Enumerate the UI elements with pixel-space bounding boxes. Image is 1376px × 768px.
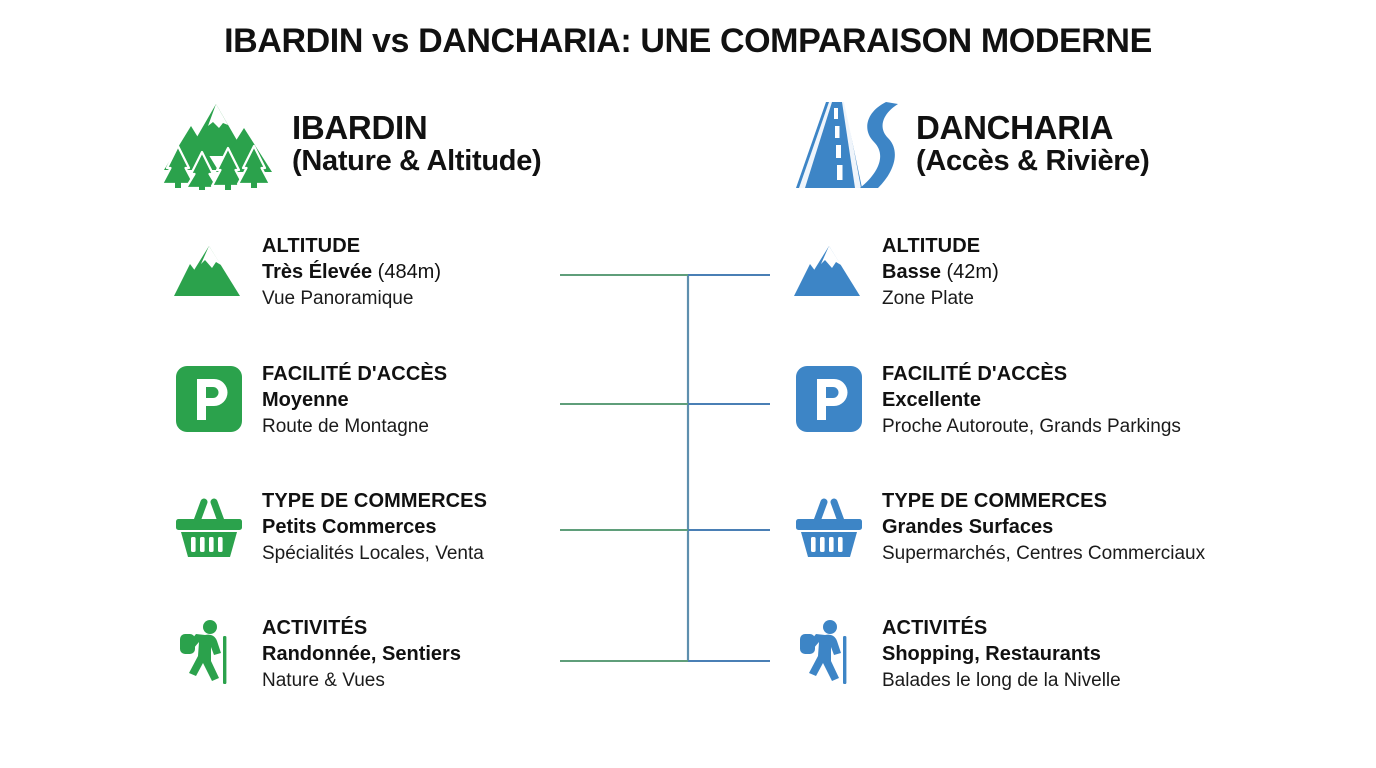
row-value-strong: Grandes Surfaces <box>882 516 1053 538</box>
row-detail: Nature & Vues <box>262 669 461 693</box>
row-text-altitude-left: ALTITUDE Très Élevée (484m) Vue Panorami… <box>262 232 441 312</box>
row-activities-right: ACTIVITÉS Shopping, Restaurants Balades … <box>792 614 1121 694</box>
row-value-strong: Basse <box>882 261 941 283</box>
row-category: ALTITUDE <box>262 234 441 259</box>
parking-icon <box>172 362 246 436</box>
shopping-basket-icon <box>792 489 866 563</box>
road-river-icon <box>782 98 900 190</box>
shopping-basket-icon <box>172 489 246 563</box>
row-text-activities-right: ACTIVITÉS Shopping, Restaurants Balades … <box>882 614 1121 694</box>
hiker-icon <box>792 616 866 690</box>
row-category: ALTITUDE <box>882 234 999 259</box>
column-subtitle-ibardin: (Nature & Altitude) <box>292 146 541 177</box>
row-value-strong: Petits Commerces <box>262 516 437 538</box>
row-category: ACTIVITÉS <box>262 616 461 641</box>
row-access-left: FACILITÉ D'ACCÈS Moyenne Route de Montag… <box>172 360 447 440</box>
row-text-commerce-right: TYPE DE COMMERCES Grandes Surfaces Super… <box>882 487 1205 567</box>
column-name-ibardin: IBARDIN <box>292 111 541 146</box>
row-value-note: (42m) <box>947 261 999 283</box>
row-value: Très Élevée (484m) <box>262 260 441 286</box>
row-category: FACILITÉ D'ACCÈS <box>262 362 447 387</box>
row-commerce-left: TYPE DE COMMERCES Petits Commerces Spéci… <box>172 487 487 567</box>
row-value: Excellente <box>882 388 1181 414</box>
parking-icon <box>792 362 866 436</box>
column-header-text-dancharia: DANCHARIA (Accès & Rivière) <box>916 111 1149 177</box>
mountain-forest-icon <box>158 98 276 190</box>
row-category: TYPE DE COMMERCES <box>882 489 1205 514</box>
row-text-access-left: FACILITÉ D'ACCÈS Moyenne Route de Montag… <box>262 360 447 440</box>
row-category: TYPE DE COMMERCES <box>262 489 487 514</box>
row-value-strong: Shopping, Restaurants <box>882 643 1101 665</box>
mountain-icon <box>172 234 246 308</box>
row-activities-left: ACTIVITÉS Randonnée, Sentiers Nature & V… <box>172 614 461 694</box>
row-altitude-left: ALTITUDE Très Élevée (484m) Vue Panorami… <box>172 232 441 312</box>
row-detail: Balades le long de la Nivelle <box>882 669 1121 693</box>
row-value: Petits Commerces <box>262 515 487 541</box>
row-value-strong: Excellente <box>882 389 981 411</box>
row-text-access-right: FACILITÉ D'ACCÈS Excellente Proche Autor… <box>882 360 1181 440</box>
row-text-commerce-left: TYPE DE COMMERCES Petits Commerces Spéci… <box>262 487 487 567</box>
row-value: Shopping, Restaurants <box>882 642 1121 668</box>
row-commerce-right: TYPE DE COMMERCES Grandes Surfaces Super… <box>792 487 1205 567</box>
row-value-strong: Moyenne <box>262 389 349 411</box>
row-detail: Vue Panoramique <box>262 287 441 311</box>
hiker-icon <box>172 616 246 690</box>
row-category: ACTIVITÉS <box>882 616 1121 641</box>
row-value-strong: Très Élevée <box>262 261 372 283</box>
row-detail: Supermarchés, Centres Commerciaux <box>882 542 1205 566</box>
row-value: Basse (42m) <box>882 260 999 286</box>
row-value: Grandes Surfaces <box>882 515 1205 541</box>
infographic-canvas: IBARDIN vs DANCHARIA: UNE COMPARAISON MO… <box>0 0 1376 768</box>
row-value: Randonnée, Sentiers <box>262 642 461 668</box>
row-value: Moyenne <box>262 388 447 414</box>
row-detail: Spécialités Locales, Venta <box>262 542 487 566</box>
page-title: IBARDIN vs DANCHARIA: UNE COMPARAISON MO… <box>0 22 1376 61</box>
mountain-icon <box>792 234 866 308</box>
row-detail: Route de Montagne <box>262 415 447 439</box>
row-detail: Zone Plate <box>882 287 999 311</box>
row-altitude-right: ALTITUDE Basse (42m) Zone Plate <box>792 232 999 312</box>
row-category: FACILITÉ D'ACCÈS <box>882 362 1181 387</box>
column-header-text-ibardin: IBARDIN (Nature & Altitude) <box>292 111 541 177</box>
row-access-right: FACILITÉ D'ACCÈS Excellente Proche Autor… <box>792 360 1181 440</box>
column-header-dancharia: DANCHARIA (Accès & Rivière) <box>782 98 1149 190</box>
column-subtitle-dancharia: (Accès & Rivière) <box>916 146 1149 177</box>
row-value-strong: Randonnée, Sentiers <box>262 643 461 665</box>
row-text-activities-left: ACTIVITÉS Randonnée, Sentiers Nature & V… <box>262 614 461 694</box>
column-name-dancharia: DANCHARIA <box>916 111 1149 146</box>
row-text-altitude-right: ALTITUDE Basse (42m) Zone Plate <box>882 232 999 312</box>
row-detail: Proche Autoroute, Grands Parkings <box>882 415 1181 439</box>
column-header-ibardin: IBARDIN (Nature & Altitude) <box>158 98 541 190</box>
row-value-note: (484m) <box>378 261 441 283</box>
